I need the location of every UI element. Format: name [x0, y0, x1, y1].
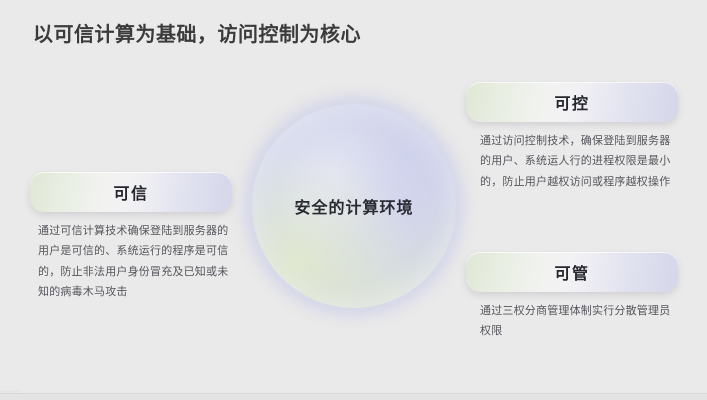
card-controllable-heading: 可控 [554, 90, 589, 114]
card-controllable[interactable]: 可控 通过访问控制技术，确保登陆到服务器的用户、系统运人行的进程权限是最小的，防… [466, 82, 678, 192]
card-manageable[interactable]: 可管 通过三权分商管理体制实行分散管理员权限 [466, 252, 678, 342]
card-trusted-heading: 可信 [113, 180, 148, 204]
card-manageable-heading: 可管 [554, 260, 589, 284]
center-circle-label: 安全的计算环境 [252, 194, 456, 218]
slide-canvas: 以可信计算为基础，访问控制为核心 安全的计算环境 可信 通过可信计算技术确保登陆… [0, 0, 707, 400]
card-controllable-body: 通过访问控制技术，确保登陆到服务器的用户、系统运人行的进程权限是最小的，防止用户… [466, 131, 678, 192]
bottom-edge-strip [0, 393, 707, 400]
center-circle-group: 安全的计算环境 [252, 104, 456, 308]
card-trusted[interactable]: 可信 通过可信计算技术确保登陆到服务器的用户是可信的、系统运行的程序是可信的，防… [30, 172, 232, 302]
secure-computing-circle: 安全的计算环境 [252, 104, 456, 308]
card-trusted-body: 通过可信计算技术确保登陆到服务器的用户是可信的、系统运行的程序是可信的，防止非法… [30, 221, 232, 302]
card-manageable-header[interactable]: 可管 [466, 252, 678, 292]
card-trusted-header[interactable]: 可信 [30, 172, 232, 212]
card-controllable-header[interactable]: 可控 [466, 82, 678, 122]
page-title: 以可信计算为基础，访问控制为核心 [33, 22, 361, 48]
card-manageable-body: 通过三权分商管理体制实行分散管理员权限 [466, 301, 678, 342]
